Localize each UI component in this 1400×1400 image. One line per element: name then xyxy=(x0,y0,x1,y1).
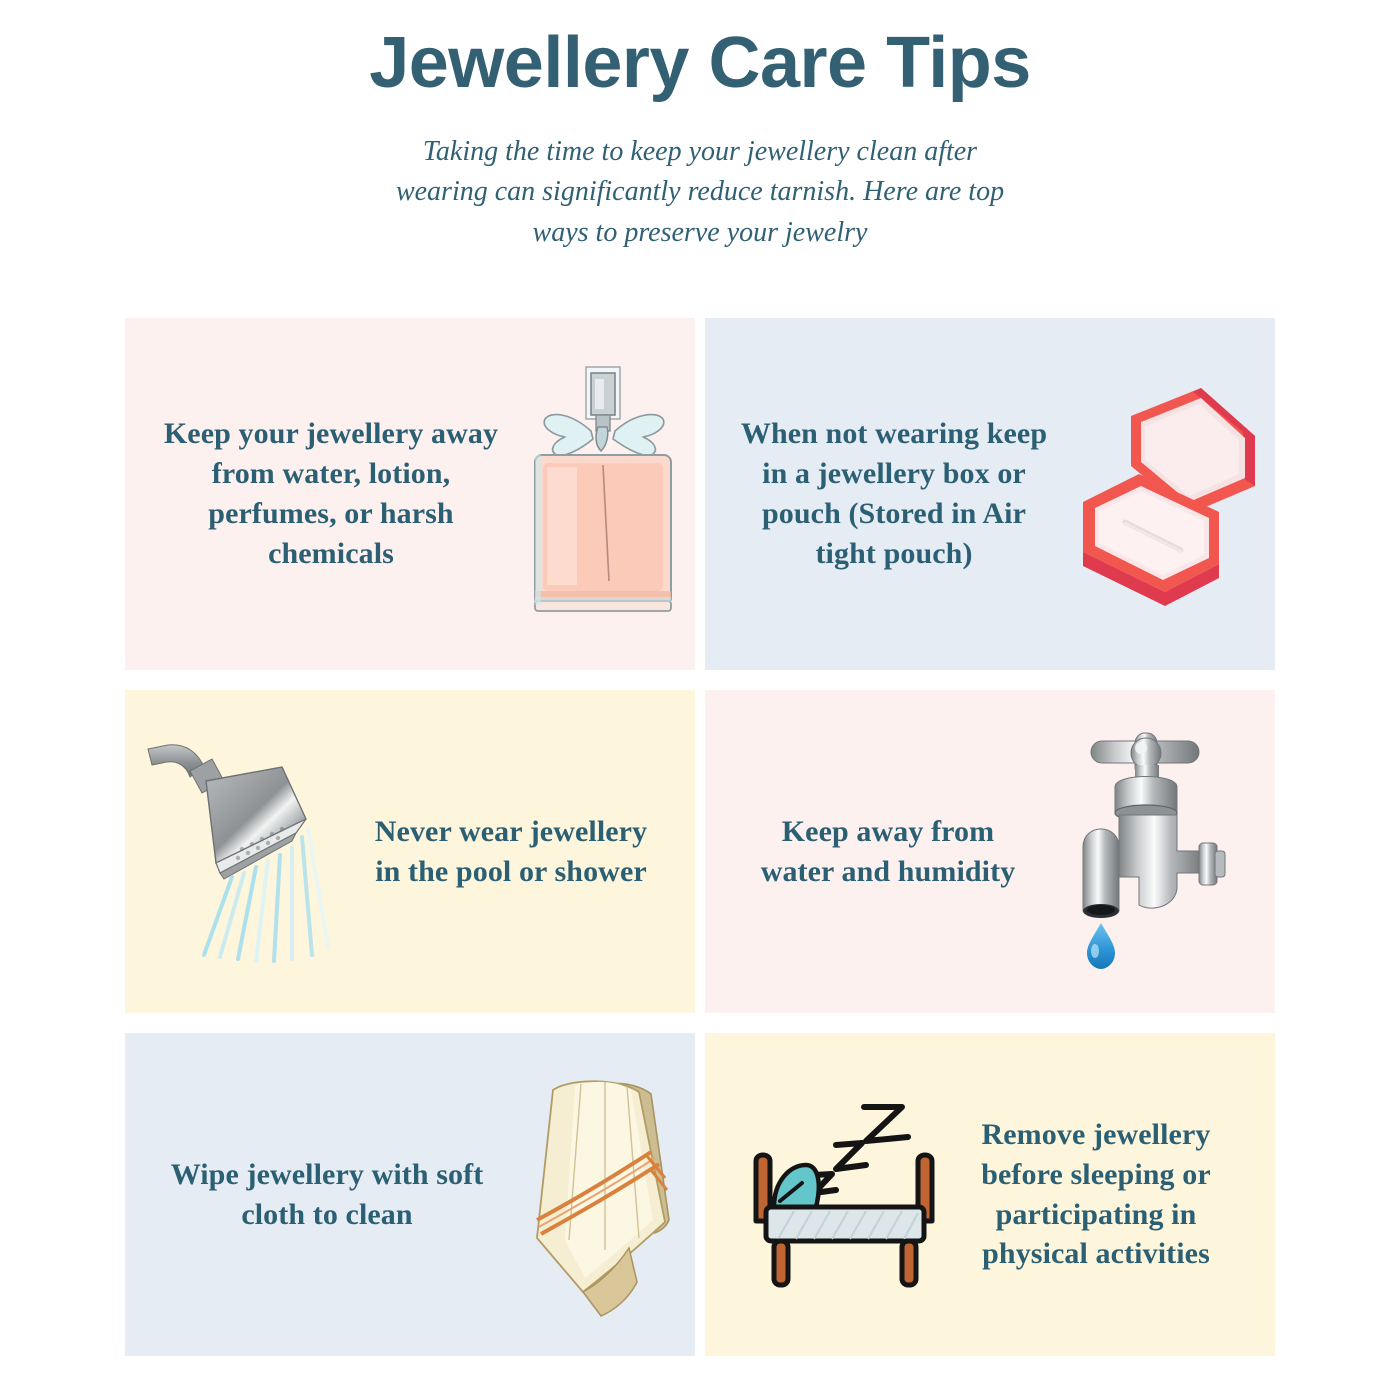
tip-card-3-label: Never wear jewellery in the pool or show… xyxy=(361,812,661,892)
tip-card-3[interactable]: Never wear jewellery in the pool or show… xyxy=(125,690,695,1013)
perfume-bottle-icon xyxy=(513,359,693,629)
infographic-page: Jewellery Care Tips Taking the time to k… xyxy=(0,0,1400,1400)
ring-box-icon xyxy=(1069,374,1269,614)
tip-card-5-label: Wipe jewellery with soft cloth to clean xyxy=(167,1155,487,1235)
tip-card-2[interactable]: When not wearing keep in a jewellery box… xyxy=(705,318,1275,670)
tip-card-4[interactable]: Keep away from water and humidity xyxy=(705,690,1275,1013)
page-title: Jewellery Care Tips xyxy=(0,26,1400,102)
tip-card-4-label: Keep away from water and humidity xyxy=(753,812,1023,892)
faucet-drip-icon xyxy=(1053,727,1253,977)
tip-card-1-label: Keep your jewellery away from water, lot… xyxy=(151,414,511,574)
page-subtitle: Taking the time to keep your jewellery c… xyxy=(380,132,1020,254)
tip-card-1[interactable]: Keep your jewellery away from water, lot… xyxy=(125,318,695,670)
tips-grid: Keep your jewellery away from water, lot… xyxy=(125,318,1275,1356)
tip-card-2-label: When not wearing keep in a jewellery box… xyxy=(729,414,1059,574)
header: Jewellery Care Tips Taking the time to k… xyxy=(0,0,1400,253)
soft-cloth-icon xyxy=(519,1070,689,1320)
tip-card-5[interactable]: Wipe jewellery with soft cloth to clean xyxy=(125,1033,695,1356)
tip-card-6[interactable]: Remove jewellery before sleeping or part… xyxy=(705,1033,1275,1356)
tip-card-6-label: Remove jewellery before sleeping or part… xyxy=(951,1115,1241,1275)
shower-head-icon xyxy=(146,737,361,967)
bed-sleeping-icon xyxy=(736,1095,951,1295)
